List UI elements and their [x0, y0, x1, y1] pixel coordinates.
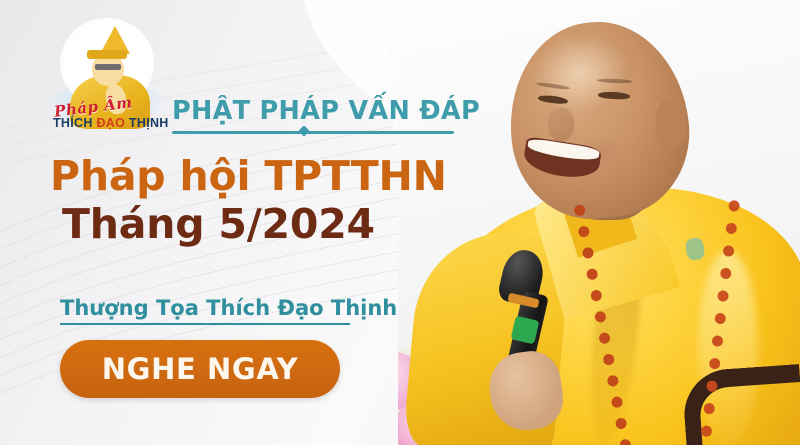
promo-banner: Pháp Âm THÍCH ĐẠO THỊNH PHẬT PHÁP VẤN ĐÁ… — [0, 0, 800, 445]
brand-logo[interactable]: Pháp Âm THÍCH ĐẠO THỊNH — [48, 20, 166, 134]
logo-monk-hat-band-icon — [87, 50, 127, 59]
page-title-line1: Pháp hội TPTTHN — [50, 152, 447, 200]
listen-now-button[interactable]: NGHE NGAY — [60, 340, 340, 398]
speaker-underline — [60, 323, 350, 325]
page-title-line2: Tháng 5/2024 — [62, 200, 375, 248]
kicker-diamond-marker — [298, 125, 309, 136]
monk-nose — [548, 108, 574, 142]
speaker-block: Thượng Tọa Thích Đạo Thịnh — [60, 296, 352, 325]
monk-ear — [656, 100, 686, 148]
speaker-name: Thượng Tọa Thích Đạo Thịnh — [60, 296, 352, 320]
logo-monk-glasses-icon — [95, 64, 121, 70]
kicker-underline — [172, 131, 454, 134]
logo-wordmark-part1: THÍCH — [53, 116, 96, 130]
kicker-label: PHẬT PHÁP VẤN ĐÁP — [172, 96, 458, 126]
logo-wordmark-part3: THỊNH — [125, 116, 168, 130]
logo-wordmark: THÍCH ĐẠO THỊNH — [53, 116, 169, 130]
kicker-block: PHẬT PHÁP VẤN ĐÁP — [172, 96, 458, 134]
speaker-photo — [398, 0, 800, 445]
logo-wordmark-part2: ĐẠO — [96, 116, 125, 130]
